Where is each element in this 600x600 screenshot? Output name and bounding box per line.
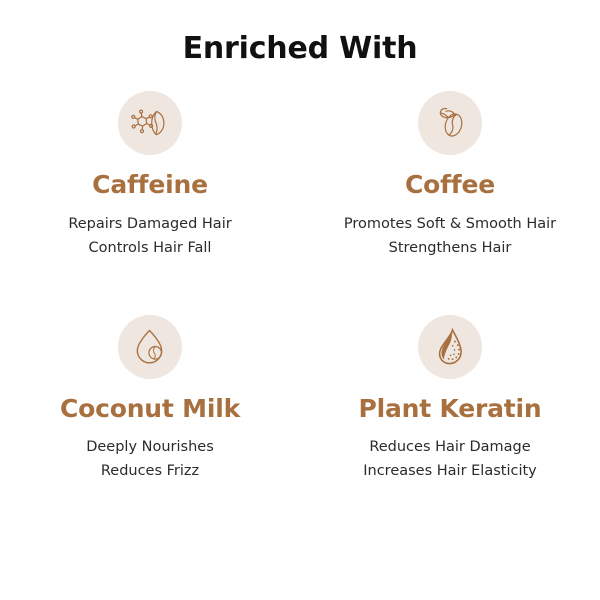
coffee-beans-icon — [418, 91, 482, 155]
benefit-item: Repairs Damaged Hair — [68, 215, 231, 233]
benefit-item: Deeply Nourishes — [86, 438, 214, 456]
enriched-with-infographic: Enriched With — [0, 0, 600, 600]
ingredient-card-plant-keratin: Plant Keratin Reduces Hair Damage Increa… — [300, 315, 600, 481]
ingredient-name: Coconut Milk — [60, 395, 240, 423]
benefit-item: Strengthens Hair — [344, 239, 556, 257]
ingredient-card-coffee: Coffee Promotes Soft & Smooth Hair Stren… — [300, 91, 600, 257]
keratin-leaf-droplet-icon — [418, 315, 482, 379]
benefit-list: Repairs Damaged Hair Controls Hair Fall — [68, 215, 231, 257]
benefit-list: Reduces Hair Damage Increases Hair Elast… — [363, 438, 537, 480]
ingredient-name: Plant Keratin — [358, 395, 541, 423]
benefit-item: Reduces Hair Damage — [363, 438, 537, 456]
ingredient-card-coconut-milk: Coconut Milk Deeply Nourishes Reduces Fr… — [0, 315, 300, 481]
caffeine-molecule-bean-icon — [118, 91, 182, 155]
benefit-item: Controls Hair Fall — [68, 239, 231, 257]
ingredient-name: Coffee — [405, 171, 495, 199]
ingredient-name: Caffeine — [92, 171, 208, 199]
benefit-item: Reduces Frizz — [86, 462, 214, 480]
benefit-list: Promotes Soft & Smooth Hair Strengthens … — [344, 215, 556, 257]
benefit-item: Increases Hair Elasticity — [363, 462, 537, 480]
benefit-item: Promotes Soft & Smooth Hair — [344, 215, 556, 233]
page-title: Enriched With — [0, 0, 600, 65]
ingredient-card-caffeine: Caffeine Repairs Damaged Hair Controls H… — [0, 91, 300, 257]
milk-droplet-coconut-icon — [118, 315, 182, 379]
ingredient-grid: Caffeine Repairs Damaged Hair Controls H… — [0, 91, 600, 481]
benefit-list: Deeply Nourishes Reduces Frizz — [86, 438, 214, 480]
